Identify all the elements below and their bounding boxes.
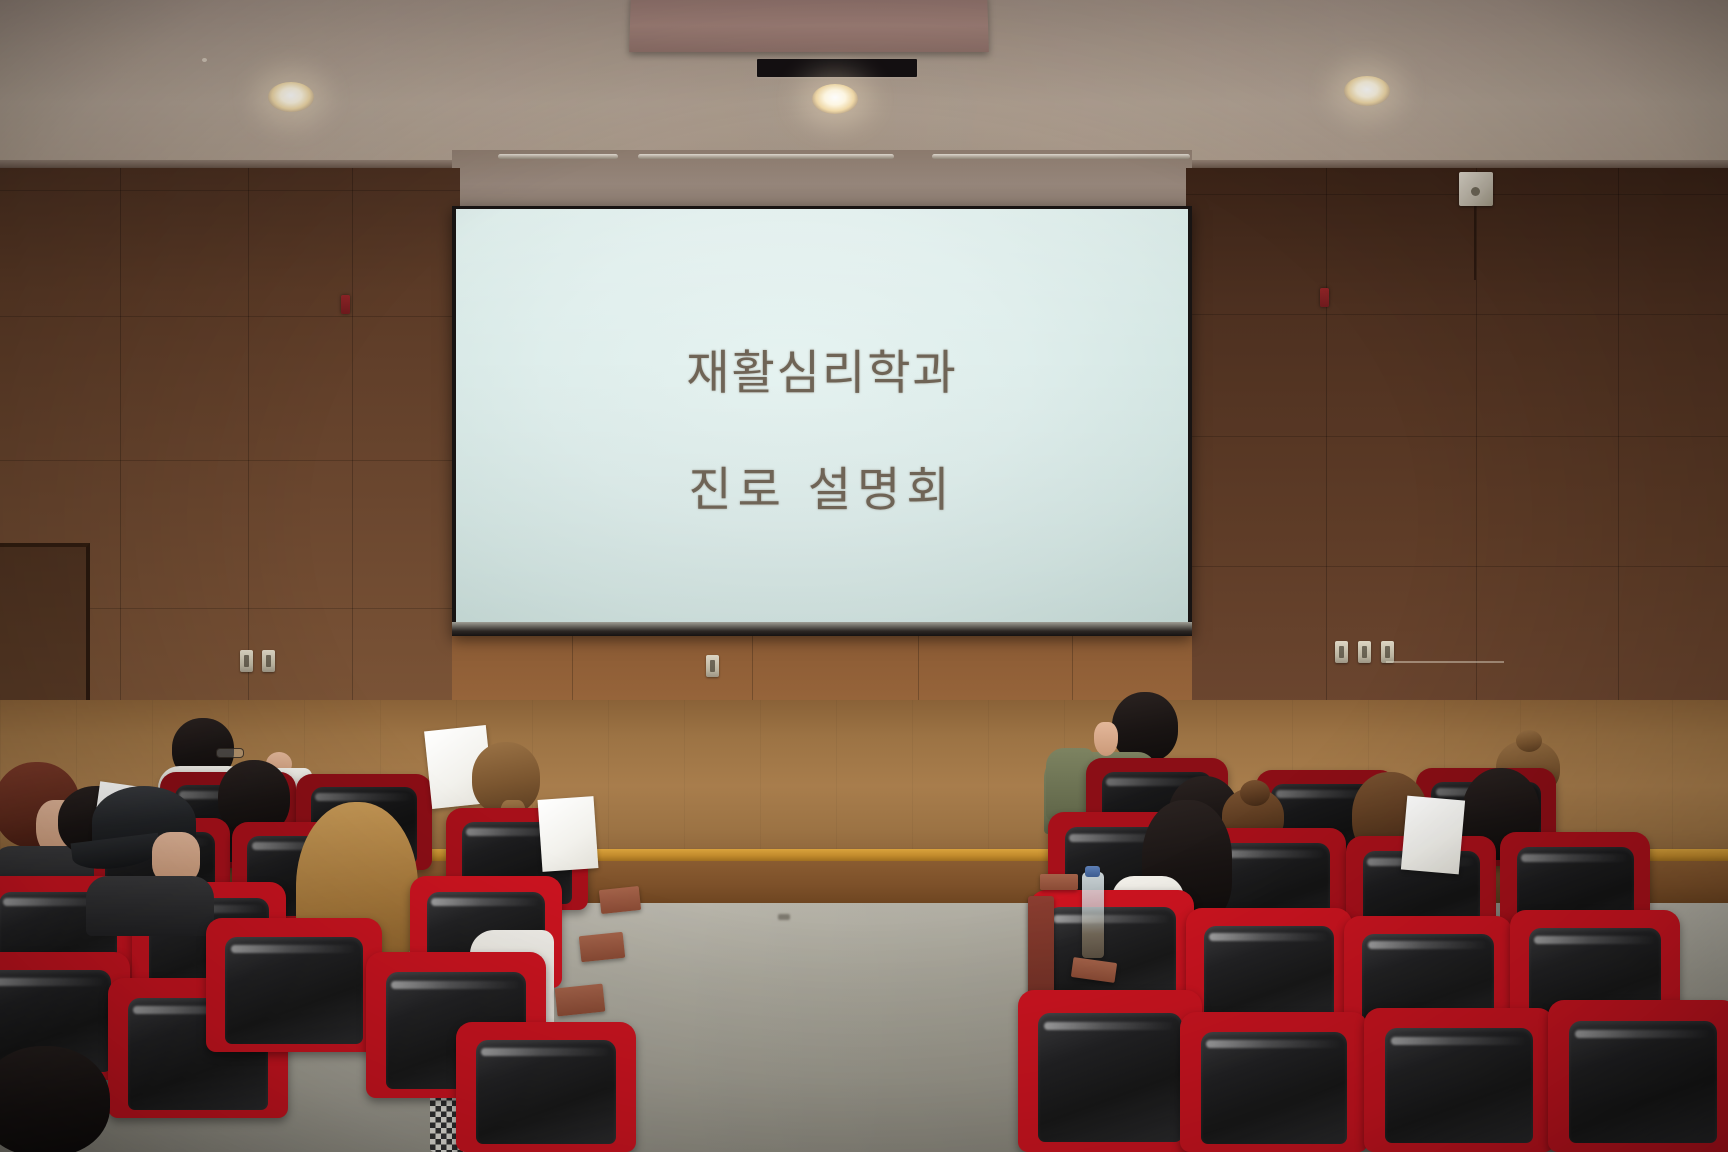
seat-cushion <box>1201 1032 1348 1144</box>
panel-seam <box>1186 194 1728 195</box>
seat-cushion <box>1569 1021 1717 1143</box>
ceiling-speck <box>202 58 207 62</box>
seat-highlight <box>1575 1030 1712 1038</box>
seat-cushion <box>1385 1028 1533 1143</box>
panel-seam <box>1186 314 1728 315</box>
panel-seam <box>1186 566 1728 567</box>
seat-highlight <box>1521 854 1629 862</box>
screen-bottom-bar <box>452 622 1192 636</box>
seat-highlight <box>1044 1022 1176 1030</box>
handout-paper <box>538 796 599 872</box>
seat-highlight <box>1391 1037 1528 1045</box>
seat[interactable] <box>1548 1000 1728 1152</box>
seat[interactable] <box>206 918 382 1052</box>
ceiling-soffit-panel <box>629 0 989 52</box>
wall-trim-rail <box>1386 661 1504 663</box>
wall-outlet-icon <box>262 650 275 672</box>
panel-seam <box>0 190 460 191</box>
armrest-tray[interactable] <box>1040 874 1078 890</box>
curtain-rail-segment <box>638 154 894 159</box>
seat-highlight <box>1206 1040 1341 1048</box>
panel-seam <box>1186 436 1728 437</box>
screen-ceiling-pocket <box>452 150 1192 212</box>
seat[interactable] <box>456 1022 636 1152</box>
slide-title-line-2: 진로 설명회 <box>688 451 955 520</box>
person-hair-bun <box>1240 780 1270 806</box>
seat[interactable] <box>1018 990 1202 1152</box>
wall-outlet-icon <box>1335 641 1348 663</box>
ceiling-vent-slot <box>757 59 917 77</box>
wall-outlet-icon <box>240 650 253 672</box>
seat-highlight <box>1209 933 1329 941</box>
water-bottle[interactable] <box>1082 872 1104 958</box>
downlight-center-icon <box>812 84 858 114</box>
downlight-left-icon <box>268 82 314 112</box>
seat-highlight <box>0 978 106 986</box>
fire-alarm-icon <box>341 295 350 314</box>
panel-seam <box>0 460 460 461</box>
seat-highlight <box>431 898 540 906</box>
seat-cushion <box>225 937 362 1044</box>
slide-title-line-1: 재활심리학과 <box>686 334 957 403</box>
wall-outlet-icon <box>706 655 719 677</box>
seat-highlight <box>231 945 358 953</box>
wall-outlet-icon <box>1381 641 1394 663</box>
armrest-tray[interactable] <box>599 886 641 914</box>
person-hand <box>1094 722 1118 756</box>
glasses-icon <box>216 748 244 758</box>
seat-highlight <box>1053 915 1171 923</box>
seat-highlight <box>481 1048 611 1056</box>
slide-content: 재활심리학과 진로 설명회 <box>456 209 1188 623</box>
curtain-rail-segment <box>498 154 618 159</box>
seat-cushion <box>1038 1013 1182 1143</box>
projection-screen: 재활심리학과 진로 설명회 <box>452 206 1192 636</box>
seat-highlight <box>1219 850 1326 858</box>
seat[interactable] <box>1364 1008 1554 1152</box>
seat[interactable] <box>1180 1012 1368 1152</box>
projection-screen-surface: 재활심리학과 진로 설명회 <box>456 209 1188 623</box>
panel-seam <box>0 316 460 317</box>
seat-highlight <box>391 981 521 989</box>
downlight-right-icon <box>1344 76 1390 106</box>
wall-outlet-icon <box>1358 641 1371 663</box>
ceiling <box>0 0 1728 172</box>
bottle-cap <box>1085 866 1100 877</box>
handout-paper <box>1401 796 1465 875</box>
floor-mark <box>778 914 790 920</box>
curtain-rail-segment <box>932 154 1190 159</box>
auditorium-scene: 재활심리학과 진로 설명회 <box>0 0 1728 1152</box>
seat-highlight <box>315 793 413 801</box>
sensor-cable <box>1474 206 1476 280</box>
person-hair-bun <box>1516 730 1542 752</box>
person-body <box>86 876 214 936</box>
armrest-tray[interactable] <box>579 932 625 962</box>
seat-highlight <box>1534 936 1656 944</box>
seat-highlight <box>1368 941 1489 949</box>
armrest-tray[interactable] <box>555 984 606 1017</box>
fire-alarm-icon <box>1320 288 1329 307</box>
wall-sensor-icon <box>1459 172 1493 206</box>
